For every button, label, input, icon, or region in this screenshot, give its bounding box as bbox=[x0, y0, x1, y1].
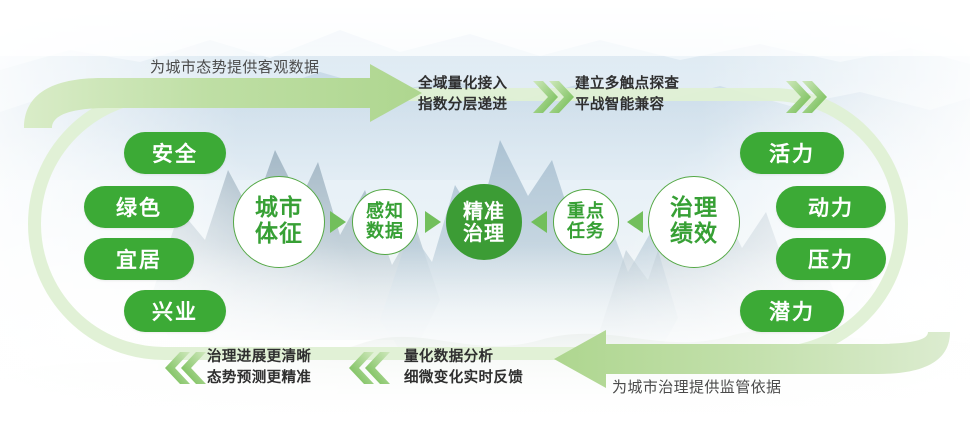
node-city-vitals[interactable]: 城市 体征 bbox=[233, 176, 325, 268]
right-pill-pressure[interactable]: 压力 bbox=[776, 238, 886, 280]
node-precise-governance-line1: 精准 bbox=[463, 200, 505, 222]
left-pill-safety[interactable]: 安全 bbox=[124, 132, 226, 174]
bottom-flow-caption: 为城市治理提供监管依据 bbox=[612, 377, 781, 398]
connector-arrow-2 bbox=[425, 211, 441, 233]
connector-arrow-3 bbox=[531, 211, 547, 233]
bottom-step-2-line2: 细微变化实时反馈 bbox=[404, 368, 523, 389]
node-city-vitals-line1: 城市 bbox=[255, 196, 303, 222]
bottom-step-1-line1: 治理进展更清晰 bbox=[207, 347, 311, 368]
node-governance-performance-line2: 绩效 bbox=[670, 222, 718, 248]
left-pill-livable[interactable]: 宜居 bbox=[84, 238, 194, 280]
left-pill-livable-label: 宜居 bbox=[116, 244, 162, 274]
node-sensing-data-line1: 感知 bbox=[366, 202, 404, 222]
left-pill-industry[interactable]: 兴业 bbox=[124, 290, 226, 332]
right-pill-momentum-label: 动力 bbox=[808, 192, 854, 222]
right-pill-pressure-label: 压力 bbox=[808, 244, 854, 274]
right-pill-potential-label: 潜力 bbox=[769, 296, 815, 326]
left-pill-safety-label: 安全 bbox=[152, 138, 198, 168]
node-governance-performance[interactable]: 治理 绩效 bbox=[648, 176, 740, 268]
node-key-tasks[interactable]: 重点 任务 bbox=[553, 189, 619, 255]
node-city-vitals-line2: 体征 bbox=[255, 222, 303, 248]
top-step-1-line1: 全域量化接入 bbox=[418, 74, 507, 95]
left-pill-green-label: 绿色 bbox=[116, 192, 162, 222]
node-key-tasks-line2: 任务 bbox=[567, 222, 605, 242]
bottom-step-2-line1: 量化数据分析 bbox=[404, 347, 493, 368]
node-key-tasks-line1: 重点 bbox=[567, 202, 605, 222]
right-pill-vitality-label: 活力 bbox=[769, 138, 815, 168]
left-pill-green[interactable]: 绿色 bbox=[84, 186, 194, 228]
node-sensing-data[interactable]: 感知 数据 bbox=[352, 189, 418, 255]
right-pill-vitality[interactable]: 活力 bbox=[740, 132, 844, 174]
top-flow-caption: 为城市态势提供客观数据 bbox=[150, 57, 319, 78]
connector-arrow-4 bbox=[627, 211, 643, 233]
top-step-2-line2: 平战智能兼容 bbox=[575, 95, 664, 116]
node-precise-governance[interactable]: 精准 治理 bbox=[446, 184, 522, 260]
top-step-1-line2: 指数分层递进 bbox=[418, 95, 507, 116]
left-pill-industry-label: 兴业 bbox=[152, 296, 198, 326]
double-chevron-left-icon-2 bbox=[348, 348, 392, 388]
double-chevron-right-icon-end bbox=[784, 76, 830, 118]
right-pill-momentum[interactable]: 动力 bbox=[776, 186, 886, 228]
top-step-2-line1: 建立多触点探查 bbox=[575, 74, 679, 95]
double-chevron-right-icon bbox=[531, 76, 577, 118]
diagram-canvas: 为城市态势提供客观数据 全域量化接入 指数分层递进 建立多触点探查 平战智能兼容… bbox=[0, 0, 970, 425]
connector-arrow-1 bbox=[330, 211, 346, 233]
node-sensing-data-line2: 数据 bbox=[366, 222, 404, 242]
right-pill-potential[interactable]: 潜力 bbox=[740, 290, 844, 332]
node-governance-performance-line1: 治理 bbox=[670, 196, 718, 222]
double-chevron-left-icon-1 bbox=[164, 348, 208, 388]
bottom-step-1-line2: 态势预测更精准 bbox=[207, 368, 311, 389]
node-precise-governance-line2: 治理 bbox=[463, 222, 505, 244]
